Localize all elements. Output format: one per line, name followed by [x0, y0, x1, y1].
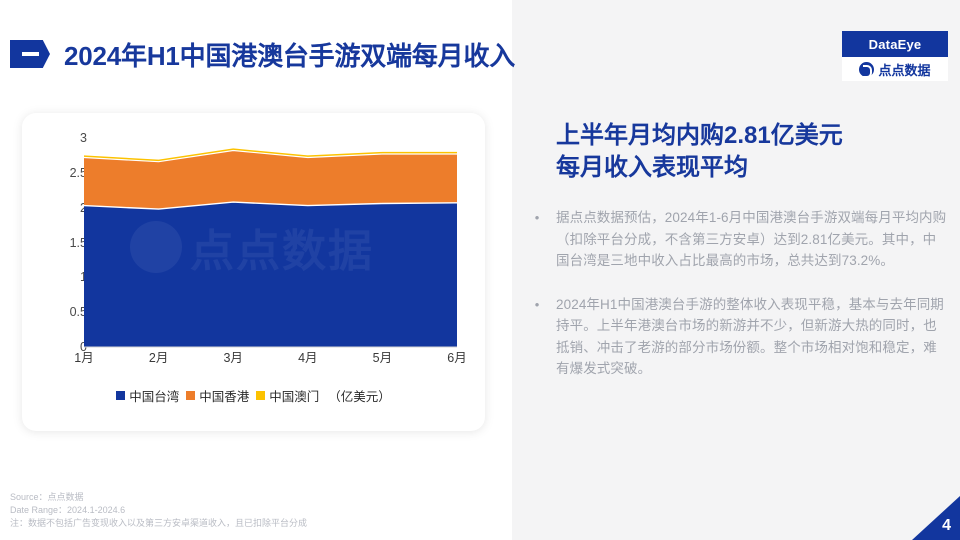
footer-source-line: Source：点点数据 — [10, 491, 307, 504]
page-number-badge: 4 — [912, 496, 960, 540]
slide-header: 2024年H1中国港澳台手游双端每月收入 — [0, 28, 512, 80]
chart-area: 3 2.5 2 1.5 1 0.5 0 — [22, 113, 485, 431]
bullet-text: 2024年H1中国港澳台手游的整体收入表现平稳，基本与去年同期持平。上半年港澳台… — [556, 294, 948, 380]
legend-swatch-icon — [256, 391, 265, 400]
bullet-text: 据点点数据预估，2024年1-6月中国港澳台手游双端每月平均内购（扣除平台分成，… — [556, 207, 948, 272]
summary-headline-line2: 每月收入表现平均 — [556, 152, 942, 184]
list-item: • 据点点数据预估，2024年1-6月中国港澳台手游双端每月平均内购（扣除平台分… — [518, 207, 948, 272]
bullet-marker-icon: • — [518, 207, 556, 272]
bullet-marker-icon: • — [518, 294, 556, 380]
logo-chinese-name: 点点数据 — [878, 60, 930, 79]
dash-icon — [22, 52, 39, 56]
footer-date-value: 2024.1-2024.6 — [67, 505, 125, 515]
slide-root: 2024年H1中国港澳台手游双端每月收入 DataEye 点点数据 3 2.5 … — [0, 0, 960, 540]
logo-top-band: DataEye — [842, 31, 948, 57]
x-tick-label: 3月 — [223, 347, 242, 366]
logo-wordmark: DataEye — [869, 37, 922, 52]
hexagon-dash-icon — [10, 40, 50, 68]
chart-legend: 中国台湾 中国香港 中国澳门 （亿美元） — [22, 386, 485, 405]
page-number: 4 — [942, 517, 951, 535]
x-tick-label: 4月 — [298, 347, 317, 366]
x-tick-label: 6月 — [447, 347, 466, 366]
footer-note-line: 注：数据不包括广告变现收入以及第三方安卓渠道收入，且已扣除平台分成 — [10, 517, 307, 530]
summary-headline-line1: 上半年月均内购2.81亿美元 — [556, 120, 942, 152]
x-tick-label: 1月 — [74, 347, 93, 366]
x-tick-label: 2月 — [149, 347, 168, 366]
stacked-area-plot — [22, 113, 485, 431]
dataeye-d-icon — [859, 62, 874, 77]
legend-item-taiwan[interactable]: 中国台湾 — [116, 386, 179, 405]
legend-label: 中国澳门 — [269, 386, 319, 405]
legend-label: 中国香港 — [199, 386, 249, 405]
brand-logo: DataEye 点点数据 — [842, 31, 948, 81]
legend-swatch-icon — [116, 391, 125, 400]
legend-item-hongkong[interactable]: 中国香港 — [186, 386, 249, 405]
footer-date-label: Date Range： — [10, 505, 67, 515]
legend-label: 中国台湾 — [129, 386, 179, 405]
summary-headline: 上半年月均内购2.81亿美元 每月收入表现平均 — [556, 120, 942, 184]
corner-triangle-icon — [912, 496, 960, 540]
footer-notes: Source：点点数据 Date Range：2024.1-2024.6 注：数… — [10, 491, 307, 530]
footer-date-line: Date Range：2024.1-2024.6 — [10, 504, 307, 517]
legend-swatch-icon — [186, 391, 195, 400]
page-title: 2024年H1中国港澳台手游双端每月收入 — [64, 36, 515, 73]
x-tick-label: 5月 — [373, 347, 392, 366]
summary-bullet-list: • 据点点数据预估，2024年1-6月中国港澳台手游双端每月平均内购（扣除平台分… — [518, 207, 948, 402]
footer-source-value: 点点数据 — [48, 492, 84, 502]
legend-unit-label: （亿美元） — [328, 386, 391, 405]
list-item: • 2024年H1中国港澳台手游的整体收入表现平稳，基本与去年同期持平。上半年港… — [518, 294, 948, 380]
chart-card: 3 2.5 2 1.5 1 0.5 0 — [22, 113, 485, 431]
logo-bottom-band: 点点数据 — [842, 57, 948, 81]
footer-source-label: Source： — [10, 492, 48, 502]
legend-item-macau[interactable]: 中国澳门 — [256, 386, 319, 405]
area-series-taiwan — [84, 202, 457, 347]
